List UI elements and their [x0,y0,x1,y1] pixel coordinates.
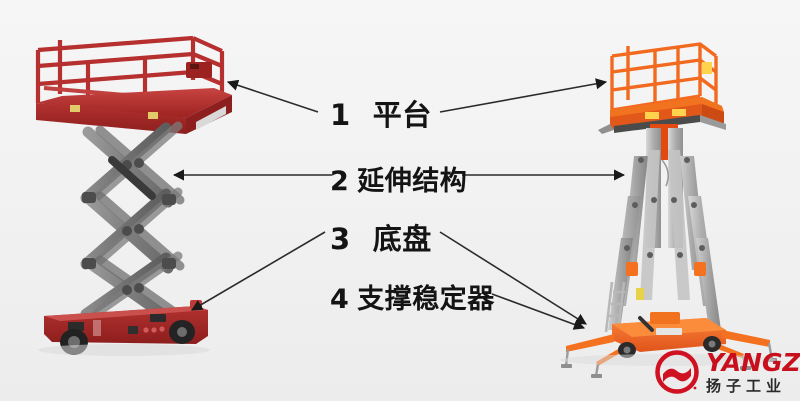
brand-logo: YANGZI 扬子工业 [655,350,800,394]
mast-rail-plate [702,62,712,74]
deck-marker-left [70,105,80,112]
callout-label-extension-structure: 2延伸结构 [330,159,467,198]
callout-text-1: 平台 [373,98,432,132]
callout-number-4: 4 [330,284,349,315]
mast-base-label [656,328,682,335]
diagram-canvas: 1平台 2延伸结构 3底盘 4支撑稳定器 YANGZI 扬子工业 [0,0,800,401]
callout-label-chassis: 3底盘 [330,216,432,258]
mast-power-box [650,312,680,324]
logo-english: YANGZI [706,350,800,375]
deck-marker-right [148,112,158,119]
mast-clamp-left [626,262,638,276]
control-box-detail [190,64,199,69]
mast-deck-marker-1 [645,112,659,119]
chassis-vent-right [150,314,166,322]
mast-lift-illustration [560,44,777,378]
callout-text-4: 支撑稳定器 [357,284,495,315]
arrow-1-right [440,82,606,112]
callout-label-support-stabilizer: 4支撑稳定器 [330,277,495,316]
arrow-1-left [228,82,318,112]
callout-text-3: 底盘 [373,222,432,256]
scissor-extension-structure [82,126,180,318]
illustration-layer [0,0,800,401]
callout-number-3: 3 [330,222,351,256]
logo-wordmark: YANGZI 扬子工业 [706,350,800,394]
callout-number-1: 1 [330,98,351,132]
chassis-badge [93,320,101,336]
mast-deck-marker-2 [672,109,686,116]
mast-hose [662,160,668,186]
yangzi-mark-icon [655,350,699,394]
callout-number-2: 2 [330,166,349,197]
callout-label-platform: 1平台 [330,92,432,134]
arrow-3-left [192,232,325,310]
scissor-lift-illustration [36,38,232,356]
mast-clamp-right [694,262,706,276]
mast-warning-label [636,288,644,300]
arrow-4-right [492,294,584,328]
logo-chinese: 扬子工业 [706,379,800,394]
callout-text-2: 延伸结构 [357,166,467,197]
chassis-panel [128,326,138,334]
scissor-shadow [38,344,210,356]
